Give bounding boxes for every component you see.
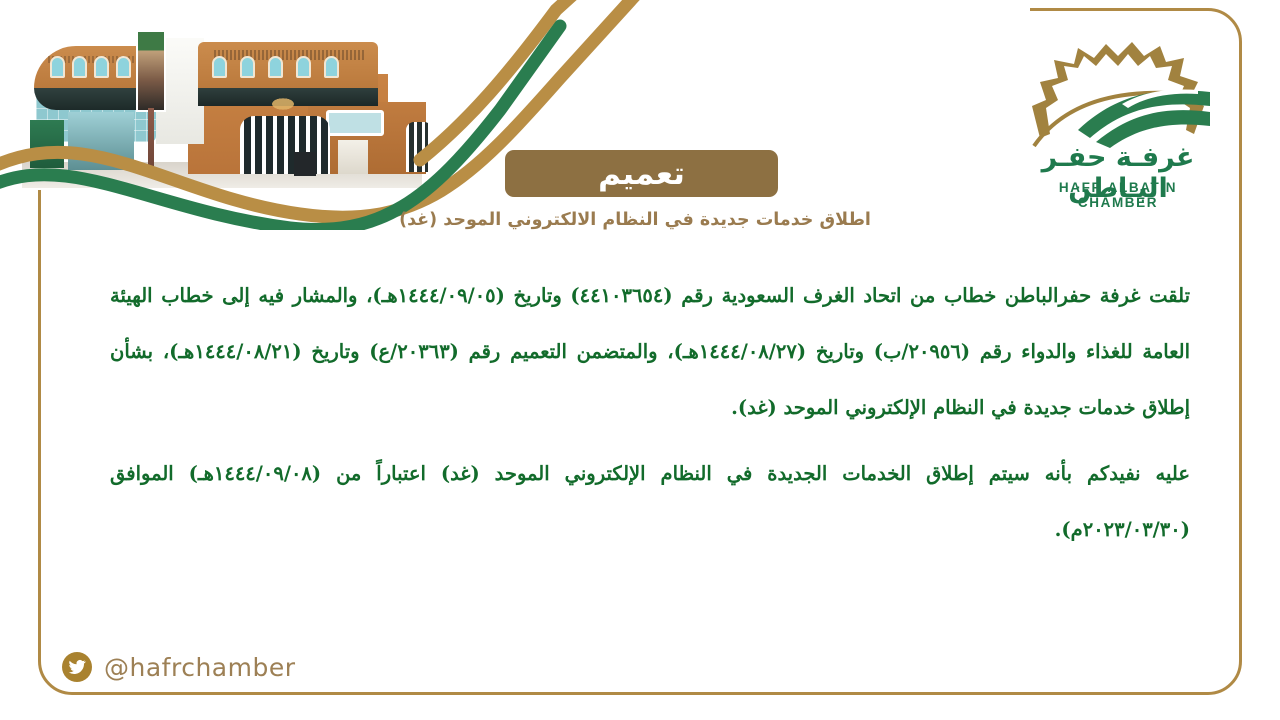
building-entrance-door (338, 140, 368, 174)
circular-badge: تعميم (505, 150, 778, 197)
building-entrance-fins (240, 116, 330, 174)
building-green-door (30, 120, 64, 168)
building-arch-window (240, 56, 255, 78)
building-arch-window (268, 56, 283, 78)
building-pole (148, 108, 154, 174)
frame-mask-topright (470, 0, 1030, 76)
building-arch-window (324, 56, 339, 78)
building-arch-window (296, 56, 311, 78)
building-arch-window (94, 56, 109, 78)
announcement-poster: غرفـة حفـر البـاطن HAFR ALBATIN CHAMBER … (0, 0, 1280, 720)
building-banner (136, 30, 166, 112)
building-foreground-box (294, 152, 316, 176)
building-side-fins (406, 122, 428, 172)
logo-english-name: HAFR ALBATIN CHAMBER (1018, 180, 1218, 210)
building-annex-window (326, 110, 384, 136)
building-arch-window (72, 56, 87, 78)
chamber-logo: غرفـة حفـر البـاطن HAFR ALBATIN CHAMBER (1018, 34, 1218, 204)
building-arch-window (212, 56, 227, 78)
building-sign-text-right (214, 50, 364, 60)
body-paragraph-1: تلقت غرفة حفرالباطن خطاب من اتحاد الغرف … (110, 268, 1190, 436)
twitter-icon[interactable] (62, 652, 92, 682)
page-title: اطلاق خدمات جديدة في النظام الالكتروني ا… (330, 210, 940, 230)
building-lower-glass (68, 112, 134, 170)
building-crest-emblem (264, 94, 302, 114)
header-building-photo (8, 12, 428, 190)
body-text: تلقت غرفة حفرالباطن خطاب من اتحاد الغرف … (110, 268, 1190, 558)
building-arch-window (116, 56, 131, 78)
body-paragraph-2: عليه نفيدكم بأنه سيتم إطلاق الخدمات الجد… (110, 446, 1190, 558)
chamber-crown-road-mark (1018, 34, 1218, 152)
social-footer[interactable]: @hafrchamber (62, 652, 296, 682)
building-arch-window (50, 56, 65, 78)
twitter-handle[interactable]: @hafrchamber (104, 653, 296, 682)
